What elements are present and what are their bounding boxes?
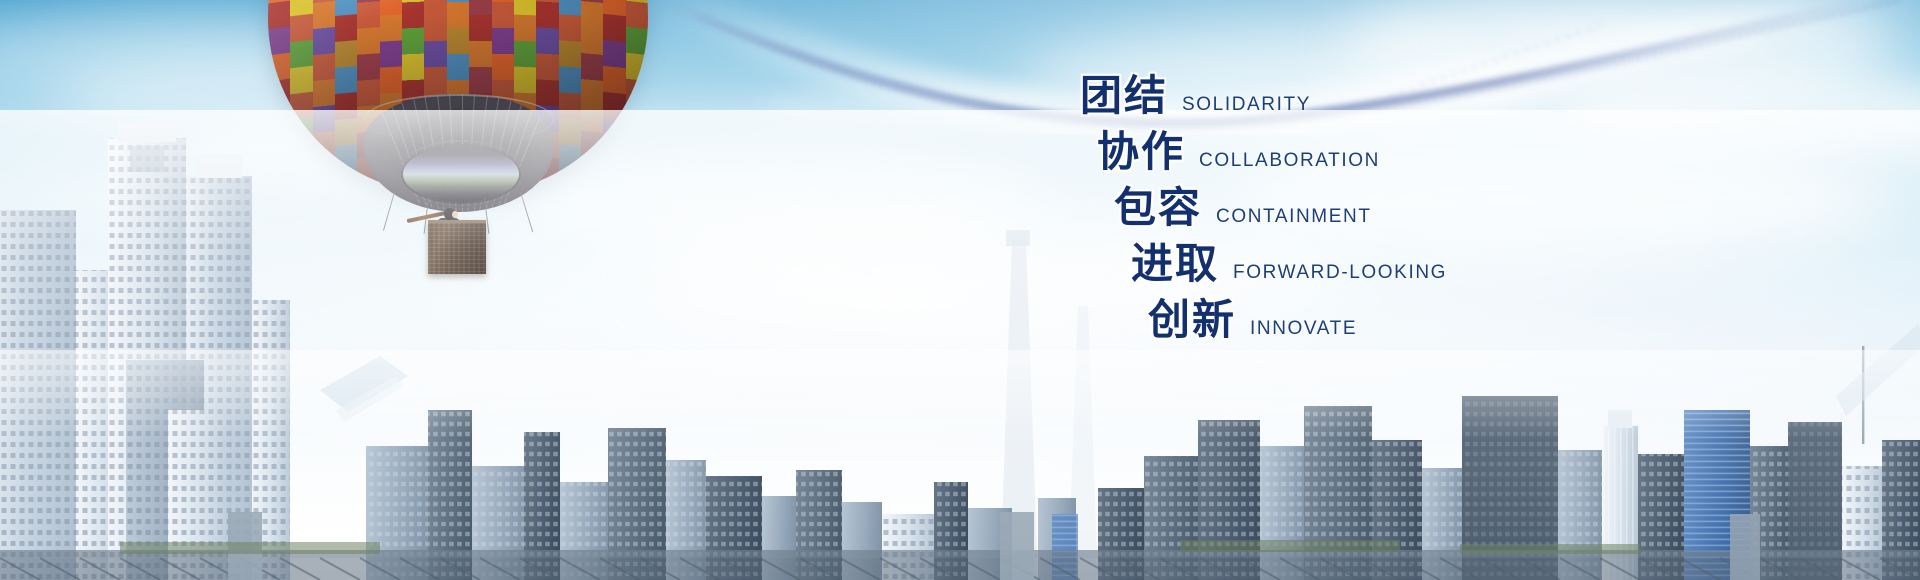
slogan-english-text: INNOVATE bbox=[1250, 318, 1357, 340]
slogan-solidarity: 团结 SOLIDARITY bbox=[1080, 62, 1311, 123]
slogan-chinese-text: 进取 bbox=[1131, 230, 1219, 291]
slogan-english-text: CONTAINMENT bbox=[1216, 206, 1372, 228]
corporate-values-list: 团结 SOLIDARITY 协作 COLLABORATION 包容 CONTAI… bbox=[0, 62, 1920, 362]
slogan-forward-looking: 进取 FORWARD-LOOKING bbox=[1131, 230, 1447, 291]
slogan-chinese-text: 团结 bbox=[1080, 62, 1168, 123]
corporate-culture-banner: 团结 SOLIDARITY 协作 COLLABORATION 包容 CONTAI… bbox=[0, 0, 1920, 580]
slogan-containment: 包容 CONTAINMENT bbox=[1114, 174, 1372, 235]
slogan-chinese-text: 协作 bbox=[1097, 118, 1185, 179]
slogan-chinese-text: 包容 bbox=[1114, 174, 1202, 235]
slogan-english-text: FORWARD-LOOKING bbox=[1233, 262, 1447, 284]
slogan-english-text: SOLIDARITY bbox=[1182, 94, 1311, 116]
slogan-chinese-text: 创新 bbox=[1148, 286, 1236, 347]
slogan-innovate: 创新 INNOVATE bbox=[1148, 286, 1357, 347]
slogan-collaboration: 协作 COLLABORATION bbox=[1097, 118, 1380, 179]
slogan-english-text: COLLABORATION bbox=[1199, 150, 1380, 172]
